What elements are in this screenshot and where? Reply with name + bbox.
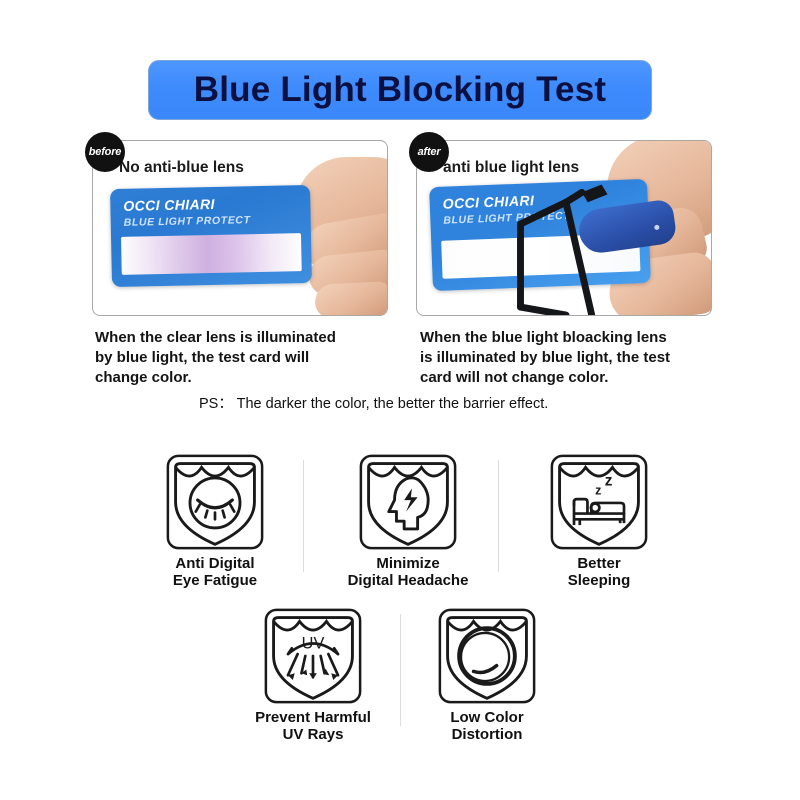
sleeping-bed-shield-icon: z z	[539, 452, 659, 552]
feature-label: Better Sleeping	[524, 555, 674, 589]
page-title: Blue Light Blocking Test	[194, 70, 607, 110]
feature-divider	[400, 614, 401, 726]
ps-note: PS： The darker the color, the better the…	[199, 392, 548, 413]
feature-label: Minimize Digital Headache	[333, 555, 483, 589]
svg-text:z: z	[605, 473, 613, 490]
before-badge: before	[85, 132, 125, 172]
feature-item: z z Better Sleeping	[524, 452, 674, 589]
feature-item: Minimize Digital Headache	[333, 452, 483, 589]
test-card-before: OCCI CHIARI BLUE LIGHT PROTECT	[110, 185, 312, 287]
test-strip-purple	[121, 233, 302, 275]
page-title-banner: Blue Light Blocking Test	[148, 60, 652, 120]
card-brand: OCCI CHIARI	[123, 196, 215, 214]
feature-item: Anti Digital Eye Fatigue	[140, 452, 290, 589]
card-subtitle: BLUE LIGHT PROTECT	[124, 214, 251, 229]
feature-label: Low Color Distortion	[412, 709, 562, 743]
feature-label: Anti Digital Eye Fatigue	[140, 555, 290, 589]
closed-eye-shield-icon	[155, 452, 275, 552]
feature-item: UV Prevent Harmful UV Rays	[238, 606, 388, 743]
svg-text:z: z	[595, 483, 601, 497]
before-panel: OCCI CHIARI BLUE LIGHT PROTECT No anti-b…	[92, 140, 388, 316]
feature-divider	[303, 460, 304, 572]
eyeglasses-illustration	[417, 141, 711, 315]
before-caption: When the clear lens is illuminated by bl…	[95, 328, 395, 387]
uv-rays-shield-icon: UV	[253, 606, 373, 706]
head-lightning-shield-icon	[348, 452, 468, 552]
after-caption: When the blue light bloacking lens is il…	[420, 328, 730, 387]
hand-finger	[314, 281, 388, 316]
feature-item: Low Color Distortion	[412, 606, 562, 743]
after-panel: OCCI CHIARI BLUE LIGHT PROTECT anti blue…	[416, 140, 712, 316]
feature-divider	[498, 460, 499, 572]
before-panel-heading: No anti-blue lens	[119, 159, 244, 177]
lens-circle-shield-icon	[427, 606, 547, 706]
feature-label: Prevent Harmful UV Rays	[238, 709, 388, 743]
